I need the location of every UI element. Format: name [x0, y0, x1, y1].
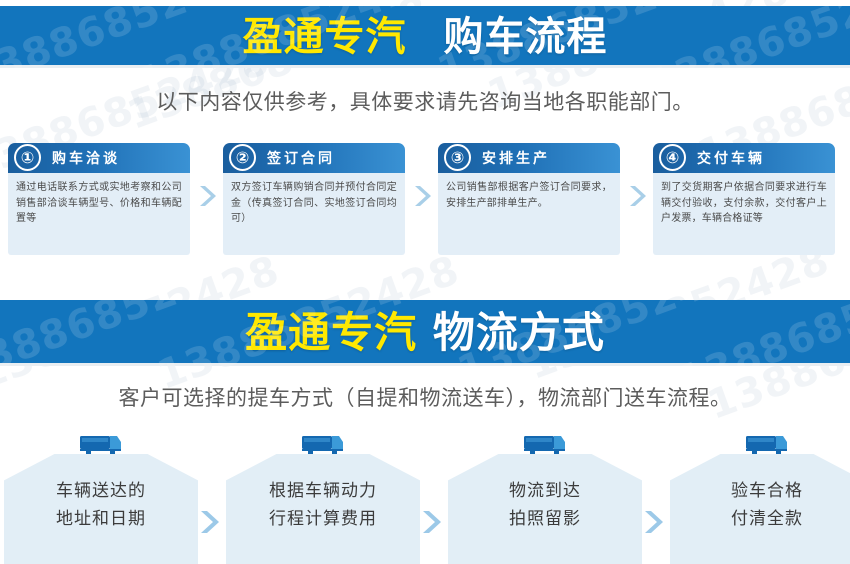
banner-heading-text: 购车流程: [443, 14, 607, 60]
step-header-1: ① 购车洽谈: [8, 143, 190, 173]
purchase-steps-row: ① 购车洽谈 通过电话联系方式或实地考察和公司销售部洽谈车辆型号、价格和车辆配置…: [0, 143, 850, 258]
banner-brand-text: 盈通专汽: [245, 308, 417, 357]
truck-icon: [299, 432, 347, 458]
step-card-2[interactable]: ② 签订合同 双方签订车辆购销合同并预付合同定金（传真签订合同、实地签订合同均可…: [223, 143, 405, 255]
step-number-badge: ①: [14, 144, 41, 171]
chevron-right-icon: [196, 183, 218, 209]
step-title: 签订合同: [267, 148, 335, 168]
logistics-label-line2: 地址和日期: [4, 506, 198, 534]
truck-icon: [521, 432, 569, 458]
logistics-card-2[interactable]: 根据车辆动力 行程计算费用: [226, 432, 420, 564]
logistics-label-line1: 车辆送达的: [4, 478, 198, 506]
banner-title: 盈通专汽 物流方式: [245, 312, 605, 354]
chevron-right-icon: [641, 508, 665, 536]
watermark-text: 13886852428: [0, 6, 275, 68]
purchase-subtitle: 以下内容仅供参考，具体要求请先咨询当地各职能部门。: [0, 86, 850, 116]
logistics-card-label: 验车合格 付清全款: [670, 478, 850, 533]
step-number-badge: ④: [659, 144, 686, 171]
chevron-right-icon: [419, 508, 443, 536]
step-header-2: ② 签订合同: [223, 143, 405, 173]
chevron-right-icon: [626, 183, 648, 209]
banner-heading-text: 物流方式: [433, 308, 605, 357]
banner-title: 盈通专汽 购车流程: [243, 17, 608, 57]
logistics-card-label: 根据车辆动力 行程计算费用: [226, 478, 420, 533]
chevron-right-icon: [197, 508, 221, 536]
step-title: 交付车辆: [697, 148, 765, 168]
logistics-label-line1: 根据车辆动力: [226, 478, 420, 506]
logistics-card-3[interactable]: 物流到达 拍照留影: [448, 432, 642, 564]
step-card-1[interactable]: ① 购车洽谈 通过电话联系方式或实地考察和公司销售部洽谈车辆型号、价格和车辆配置…: [8, 143, 190, 255]
logistics-label-line1: 验车合格: [670, 478, 850, 506]
step-title: 安排生产: [482, 148, 550, 168]
logistics-label-line2: 拍照留影: [448, 506, 642, 534]
step-body-text: 双方签订车辆购销合同并预付合同定金（传真签订合同、实地签订合同均可）: [223, 173, 405, 255]
logistics-subtitle: 客户可选择的提车方式（自提和物流送车），物流部门送车流程。: [0, 382, 850, 412]
infographic-page: 13886852428 13886852428 13886852428 1388…: [0, 0, 850, 564]
step-body-text: 公司销售部根据客户签订合同要求，安排生产部排单生产。: [438, 173, 620, 255]
truck-icon: [77, 432, 125, 458]
banner-purchase-process: 13886852428 13886852428 13886852428 1388…: [0, 6, 850, 68]
logistics-label-line2: 付清全款: [670, 506, 850, 534]
step-body-text: 通过电话联系方式或实地考察和公司销售部洽谈车辆型号、价格和车辆配置等: [8, 173, 190, 255]
step-header-3: ③ 安排生产: [438, 143, 620, 173]
step-title: 购车洽谈: [52, 148, 120, 168]
logistics-steps-row: 车辆送达的 地址和日期 根据车辆动力 行程计算费: [0, 432, 850, 564]
logistics-card-label: 车辆送达的 地址和日期: [4, 478, 198, 533]
truck-icon: [743, 432, 791, 458]
watermark-text: 13886852428: [642, 6, 850, 68]
logistics-label-line2: 行程计算费用: [226, 506, 420, 534]
watermark-text: 13886852428: [672, 300, 850, 366]
step-number-badge: ②: [229, 144, 256, 171]
step-card-4[interactable]: ④ 交付车辆 到了交货期客户依据合同要求进行车辆交付验收，支付余款，交付客户上户…: [653, 143, 835, 255]
logistics-card-4[interactable]: 验车合格 付清全款: [670, 432, 850, 564]
logistics-card-1[interactable]: 车辆送达的 地址和日期: [4, 432, 198, 564]
banner-logistics-method: 13886852428 13886852428 13886852428 1388…: [0, 300, 850, 366]
step-header-4: ④ 交付车辆: [653, 143, 835, 173]
step-card-3[interactable]: ③ 安排生产 公司销售部根据客户签订合同要求，安排生产部排单生产。: [438, 143, 620, 255]
banner-brand-text: 盈通专汽: [243, 14, 407, 60]
logistics-card-label: 物流到达 拍照留影: [448, 478, 642, 533]
step-number-badge: ③: [444, 144, 471, 171]
watermark-text: 13886852428: [0, 300, 265, 366]
step-body-text: 到了交货期客户依据合同要求进行车辆交付验收，支付余款，交付客户上户发票，车辆合格…: [653, 173, 835, 255]
logistics-label-line1: 物流到达: [448, 478, 642, 506]
chevron-right-icon: [411, 183, 433, 209]
